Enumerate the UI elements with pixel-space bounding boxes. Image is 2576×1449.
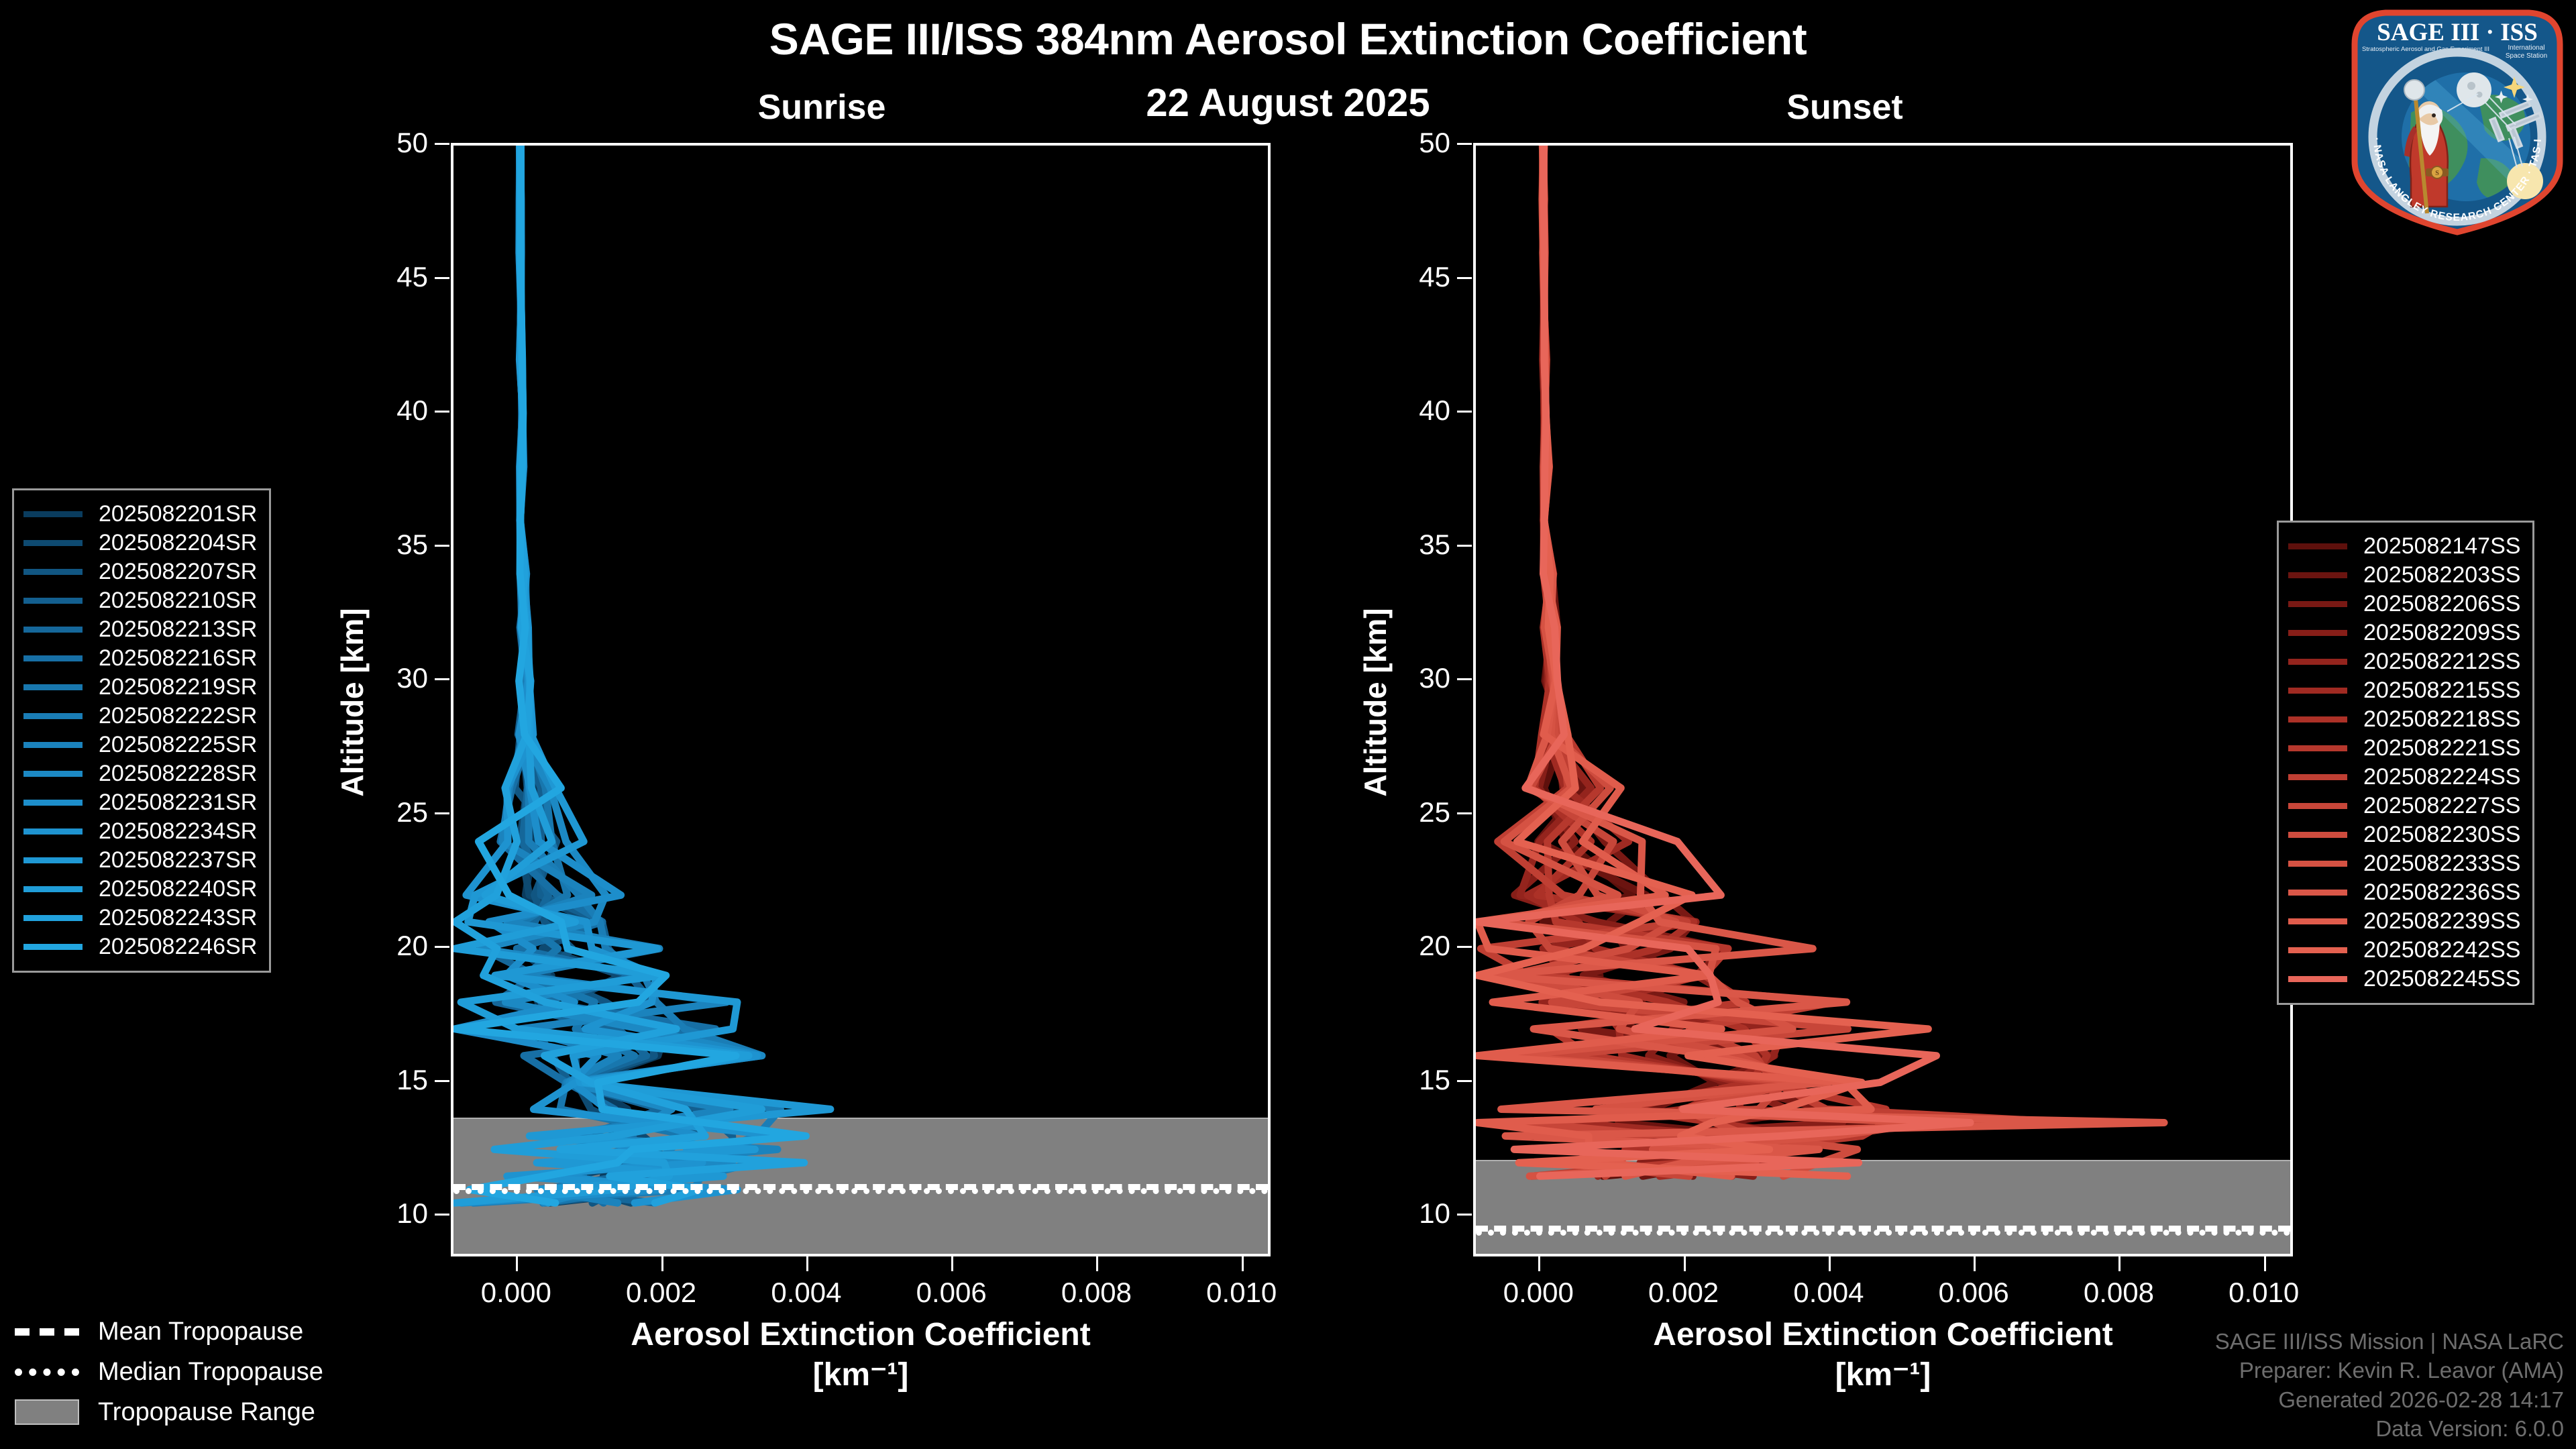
legend-item-label: 2025082218SS	[2363, 706, 2520, 733]
plot-area-sunrise	[453, 146, 1268, 1254]
legend-color-swatch	[2288, 688, 2347, 694]
extinction-profile-curves	[453, 146, 1271, 1256]
y-axis-tick-label: 35	[396, 529, 428, 561]
legend-item-label: 2025082206SS	[2363, 591, 2520, 617]
legend-item-sunrise-event[interactable]: 2025082234SR	[23, 817, 257, 846]
y-axis-tick-label: 45	[1419, 261, 1450, 293]
x-axis-title-line1: Aerosol Extinction Coefficient	[1473, 1315, 2293, 1355]
legend-color-swatch	[2288, 861, 2347, 867]
legend-item-label: 2025082224SS	[2363, 764, 2520, 790]
legend-item-sunrise-event[interactable]: 2025082243SR	[23, 904, 257, 932]
legend-color-swatch	[23, 655, 83, 661]
legend-item-sunset-event[interactable]: 2025082203SS	[2288, 561, 2520, 590]
legend-item-sunset-event[interactable]: 2025082215SS	[2288, 676, 2520, 705]
legend-color-swatch	[23, 569, 83, 575]
y-axis-tick-label: 25	[396, 796, 428, 828]
x-axis-tick-label: 0.008	[2084, 1277, 2154, 1309]
legend-color-swatch	[2288, 716, 2347, 722]
legend-color-swatch	[2288, 659, 2347, 665]
extinction-profile-line	[455, 146, 806, 1203]
dashed-line-icon	[15, 1328, 79, 1336]
legend-item-label: 2025082227SS	[2363, 793, 2520, 819]
y-axis-tick	[1457, 678, 1472, 680]
legend-item-sunrise-event[interactable]: 2025082246SR	[23, 932, 257, 961]
legend-item-label: 2025082203SS	[2363, 562, 2520, 588]
legend-sunrise-events[interactable]: 2025082201SR2025082204SR2025082207SR2025…	[12, 488, 271, 973]
legend-color-swatch	[2288, 832, 2347, 838]
legend-item-label: 2025082239SS	[2363, 908, 2520, 934]
legend-sunset-events[interactable]: 2025082147SS2025082203SS2025082206SS2025…	[2277, 521, 2534, 1005]
legend-item-label: 2025082230SS	[2363, 822, 2520, 848]
panel-title-sunset: Sunset	[1630, 87, 2059, 127]
y-axis-tick	[435, 411, 449, 413]
legend-item-sunrise-event[interactable]: 2025082231SR	[23, 788, 257, 817]
x-axis-tick	[661, 1256, 663, 1271]
y-axis-tick-label: 25	[1419, 796, 1450, 828]
legend-item-tropopause-range: Tropopause Range	[15, 1392, 323, 1432]
x-axis-tick-label: 0.000	[481, 1277, 551, 1309]
y-axis-tick-label: 10	[1419, 1197, 1450, 1230]
legend-item-sunset-event[interactable]: 2025082245SS	[2288, 965, 2520, 994]
svg-text:S: S	[2435, 170, 2439, 177]
legend-color-swatch	[23, 771, 83, 777]
logo-title: SAGE III · ISS	[2377, 19, 2538, 46]
legend-item-sunset-event[interactable]: 2025082227SS	[2288, 792, 2520, 820]
legend-item-label: 2025082243SR	[99, 905, 257, 931]
legend-item-sunrise-event[interactable]: 2025082219SR	[23, 673, 257, 702]
legend-color-swatch	[2288, 601, 2347, 607]
y-axis-tick	[1457, 277, 1472, 279]
legend-color-swatch	[23, 742, 83, 748]
x-axis-title-line2: [km⁻¹]	[451, 1355, 1271, 1395]
legend-item-sunset-event[interactable]: 2025082236SS	[2288, 878, 2520, 907]
legend-color-swatch	[2288, 918, 2347, 924]
logo-subtitle-right-1: International	[2508, 44, 2544, 52]
page-title: SAGE III/ISS 384nm Aerosol Extinction Co…	[0, 13, 2576, 64]
plot-sunset	[1473, 143, 2293, 1256]
legend-item-sunset-event[interactable]: 2025082218SS	[2288, 705, 2520, 734]
legend-color-swatch	[23, 944, 83, 950]
legend-item-sunrise-event[interactable]: 2025082210SR	[23, 586, 257, 615]
y-axis-tick-label: 50	[1419, 127, 1450, 159]
credits-data-version: Data Version: 6.0.0	[2215, 1414, 2564, 1444]
y-axis-tick-label: 20	[1419, 930, 1450, 962]
plot-area-sunset	[1476, 146, 2290, 1254]
legend-item-sunrise-event[interactable]: 2025082228SR	[23, 759, 257, 788]
legend-tropopause[interactable]: Mean Tropopause Median Tropopause Tropop…	[15, 1311, 323, 1432]
legend-color-swatch	[2288, 630, 2347, 636]
legend-item-label: 2025082234SR	[99, 818, 257, 845]
x-axis-tick	[1096, 1256, 1098, 1271]
median-tropopause-line	[1476, 1230, 2290, 1236]
y-axis-tick	[435, 678, 449, 680]
legend-color-swatch	[23, 800, 83, 806]
x-axis-title-sunrise: Aerosol Extinction Coefficient [km⁻¹]	[451, 1315, 1271, 1395]
x-axis-tick	[2264, 1256, 2266, 1271]
x-axis-tick-label: 0.002	[626, 1277, 696, 1309]
legend-item-label: 2025082213SR	[99, 616, 257, 643]
legend-color-swatch	[2288, 572, 2347, 578]
legend-item-label: 2025082228SR	[99, 761, 257, 787]
legend-item-label: 2025082246SR	[99, 934, 257, 960]
legend-color-swatch	[23, 540, 83, 546]
legend-item-sunrise-event[interactable]: 2025082213SR	[23, 615, 257, 644]
legend-color-swatch	[2288, 947, 2347, 953]
y-axis-tick-label: 35	[1419, 529, 1450, 561]
legend-color-swatch	[23, 684, 83, 690]
y-axis-tick	[1457, 411, 1472, 413]
sage-iii-iss-mission-patch-logo: SAGE III · ISS Stratospheric Aerosol and…	[2347, 5, 2568, 237]
x-axis-tick	[951, 1256, 953, 1271]
x-axis-tick	[1538, 1256, 1540, 1271]
y-axis-tick	[435, 1214, 449, 1216]
y-axis-tick	[435, 812, 449, 814]
x-axis-title-line1: Aerosol Extinction Coefficient	[451, 1315, 1271, 1355]
panel-title-sunrise: Sunrise	[607, 87, 1036, 127]
x-axis-tick-label: 0.000	[1503, 1277, 1574, 1309]
y-axis-tick-label: 45	[396, 261, 428, 293]
legend-item-label: 2025082236SS	[2363, 879, 2520, 906]
x-axis-tick-label: 0.002	[1648, 1277, 1719, 1309]
x-axis-tick	[806, 1256, 808, 1271]
legend-item-sunset-event[interactable]: 2025082206SS	[2288, 590, 2520, 619]
logo-subtitle-right-2: Space Station	[2506, 52, 2547, 60]
legend-item-sunrise-event[interactable]: 2025082201SR	[23, 500, 257, 529]
legend-label-mean-tropopause: Mean Tropopause	[98, 1318, 303, 1346]
legend-color-swatch	[23, 598, 83, 604]
y-axis-tick-label: 40	[396, 394, 428, 427]
legend-item-sunset-event[interactable]: 2025082224SS	[2288, 763, 2520, 792]
legend-item-label: 2025082207SR	[99, 559, 257, 585]
x-axis-tick	[2118, 1256, 2121, 1271]
y-axis-tick	[1457, 1214, 1472, 1216]
credits-block: SAGE III/ISS Mission | NASA LaRC Prepare…	[2215, 1327, 2564, 1444]
x-axis-tick	[1829, 1256, 1831, 1271]
legend-item-sunset-event[interactable]: 2025082242SS	[2288, 936, 2520, 965]
y-axis-tick-label: 30	[1419, 662, 1450, 694]
legend-item-label: 2025082201SR	[99, 501, 257, 527]
legend-color-swatch	[23, 857, 83, 863]
legend-item-sunset-event[interactable]: 2025082212SS	[2288, 647, 2520, 676]
legend-color-swatch	[23, 915, 83, 921]
x-axis-tick-label: 0.006	[916, 1277, 987, 1309]
legend-item-label: 2025082231SR	[99, 790, 257, 816]
legend-item-label: 2025082237SR	[99, 847, 257, 873]
legend-item-sunset-event[interactable]: 2025082239SS	[2288, 907, 2520, 936]
y-axis-title-sunrise: Altitude [km]	[334, 602, 370, 803]
legend-item-label: 2025082147SS	[2363, 533, 2520, 559]
y-axis-tick	[1457, 545, 1472, 547]
legend-color-swatch	[23, 511, 83, 517]
y-axis-tick	[1457, 1080, 1472, 1082]
filled-band-icon	[15, 1399, 79, 1425]
legend-color-swatch	[2288, 803, 2347, 809]
y-axis-tick	[435, 143, 449, 145]
y-axis-tick-label: 15	[1419, 1064, 1450, 1096]
x-axis-tick-label: 0.006	[1939, 1277, 2009, 1309]
legend-item-label: 2025082216SR	[99, 645, 257, 672]
legend-item-sunrise-event[interactable]: 2025082240SR	[23, 875, 257, 904]
x-axis-tick-label: 0.004	[1793, 1277, 1864, 1309]
legend-color-swatch	[23, 886, 83, 892]
y-axis-tick-label: 20	[396, 930, 428, 962]
legend-item-label: 2025082209SS	[2363, 620, 2520, 646]
legend-color-swatch	[23, 627, 83, 633]
legend-item-label: 2025082240SR	[99, 876, 257, 902]
legend-color-swatch	[2288, 774, 2347, 780]
y-axis-tick	[435, 545, 449, 547]
median-tropopause-line	[453, 1188, 1268, 1194]
y-axis-tick	[435, 1080, 449, 1082]
y-axis-tick-label: 40	[1419, 394, 1450, 427]
legend-item-label: 2025082212SS	[2363, 649, 2520, 675]
legend-item-sunrise-event[interactable]: 2025082216SR	[23, 644, 257, 673]
legend-item-sunrise-event[interactable]: 2025082225SR	[23, 731, 257, 759]
x-axis-tick	[1684, 1256, 1686, 1271]
y-axis-tick-label: 10	[396, 1197, 428, 1230]
y-axis-title-sunset: Altitude [km]	[1357, 602, 1393, 803]
page-subtitle-date: 22 August 2025	[0, 80, 2576, 125]
legend-item-sunset-event[interactable]: 2025082230SS	[2288, 820, 2520, 849]
legend-color-swatch	[23, 713, 83, 719]
legend-item-label: 2025082221SS	[2363, 735, 2520, 761]
y-axis-tick	[1457, 143, 1472, 145]
credits-generated: Generated 2026-02-28 14:17	[2215, 1385, 2564, 1415]
plot-sunrise	[451, 143, 1271, 1256]
legend-item-sunset-event[interactable]: 2025082209SS	[2288, 619, 2520, 647]
x-axis-tick-label: 0.008	[1061, 1277, 1132, 1309]
y-axis-tick-label: 50	[396, 127, 428, 159]
legend-item-sunrise-event[interactable]: 2025082237SR	[23, 846, 257, 875]
x-axis-tick-label: 0.010	[2229, 1277, 2299, 1309]
legend-item-label: 2025082204SR	[99, 530, 257, 556]
y-axis-tick	[1457, 812, 1472, 814]
legend-label-median-tropopause: Median Tropopause	[98, 1358, 323, 1387]
legend-color-swatch	[2288, 890, 2347, 896]
x-axis-tick-label: 0.010	[1206, 1277, 1277, 1309]
dotted-line-icon	[15, 1368, 79, 1376]
x-axis-tick	[1242, 1256, 1244, 1271]
y-axis-tick-label: 15	[396, 1064, 428, 1096]
extinction-profile-curves	[1476, 146, 2293, 1256]
credits-mission: SAGE III/ISS Mission | NASA LaRC	[2215, 1327, 2564, 1356]
legend-item-label: 2025082210SR	[99, 588, 257, 614]
y-axis-tick	[435, 946, 449, 948]
legend-color-swatch	[2288, 745, 2347, 751]
credits-preparer: Preparer: Kevin R. Leavor (AMA)	[2215, 1356, 2564, 1385]
legend-item-sunrise-event[interactable]: 2025082207SR	[23, 557, 257, 586]
x-axis-tick	[1974, 1256, 1976, 1271]
x-axis-title-line2: [km⁻¹]	[1473, 1355, 2293, 1395]
legend-item-label: 2025082242SS	[2363, 937, 2520, 963]
legend-label-tropopause-range: Tropopause Range	[98, 1398, 315, 1427]
legend-color-swatch	[23, 828, 83, 835]
y-axis-tick-label: 30	[396, 662, 428, 694]
x-axis-tick	[516, 1256, 518, 1271]
y-axis-tick	[435, 277, 449, 279]
legend-item-median-tropopause: Median Tropopause	[15, 1352, 323, 1392]
legend-item-sunset-event[interactable]: 2025082233SS	[2288, 849, 2520, 878]
legend-item-sunrise-event[interactable]: 2025082222SR	[23, 702, 257, 731]
legend-item-mean-tropopause: Mean Tropopause	[15, 1311, 323, 1352]
legend-item-label: 2025082222SR	[99, 703, 257, 729]
legend-color-swatch	[2288, 543, 2347, 549]
y-axis-tick	[1457, 946, 1472, 948]
legend-item-sunrise-event[interactable]: 2025082204SR	[23, 529, 257, 557]
legend-item-label: 2025082225SR	[99, 732, 257, 758]
legend-item-sunset-event[interactable]: 2025082221SS	[2288, 734, 2520, 763]
legend-item-label: 2025082245SS	[2363, 966, 2520, 992]
legend-item-sunset-event[interactable]: 2025082147SS	[2288, 532, 2520, 561]
legend-item-label: 2025082233SS	[2363, 851, 2520, 877]
legend-item-label: 2025082219SR	[99, 674, 257, 700]
x-axis-title-sunset: Aerosol Extinction Coefficient [km⁻¹]	[1473, 1315, 2293, 1395]
legend-item-label: 2025082215SS	[2363, 678, 2520, 704]
x-axis-tick-label: 0.004	[771, 1277, 841, 1309]
legend-color-swatch	[2288, 976, 2347, 982]
